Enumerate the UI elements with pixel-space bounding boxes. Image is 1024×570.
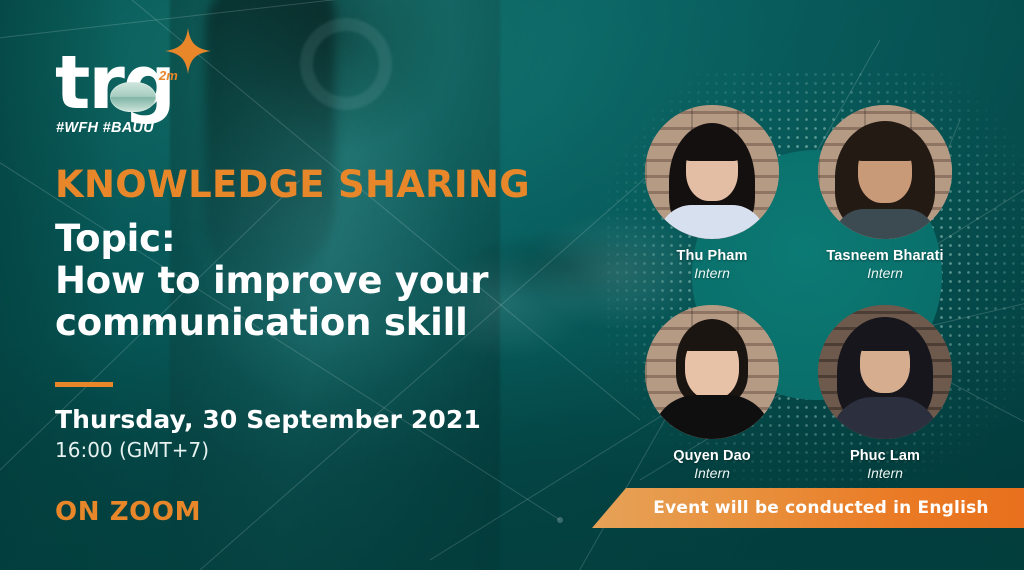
speaker-role: Intern xyxy=(645,265,779,281)
speaker-name: Tasneem Bharati xyxy=(818,248,952,264)
avatar xyxy=(818,305,952,439)
topic-label: Topic: xyxy=(55,218,575,260)
speaker-name: Quyen Dao xyxy=(645,448,779,464)
speaker-card: Tasneem Bharati Intern xyxy=(818,105,952,281)
logo-hashtags: #WFH #BAUU xyxy=(56,120,154,136)
orange-divider xyxy=(55,382,113,387)
speaker-card: Phuc Lam Intern xyxy=(818,305,952,481)
event-platform: ON ZOOM xyxy=(55,497,201,527)
event-time: 16:00 (GMT+7) xyxy=(55,438,209,462)
language-banner: Event will be conducted in English xyxy=(592,488,1024,528)
avatar xyxy=(645,105,779,239)
face-mask-icon xyxy=(110,82,156,112)
logo-wordmark: trg xyxy=(55,46,245,120)
topic-line-2: communication skill xyxy=(55,302,575,344)
event-date: Thursday, 30 September 2021 xyxy=(55,405,481,434)
page-title: KNOWLEDGE SHARING xyxy=(55,163,530,206)
speaker-card: Thu Pham Intern xyxy=(645,105,779,281)
left-content: trg 2m #WFH #BAUU KNOWLEDGE SHARING Topi… xyxy=(0,0,600,570)
avatar xyxy=(818,105,952,239)
logo-superscript: 2m xyxy=(159,68,178,83)
speaker-name: Thu Pham xyxy=(645,248,779,264)
speaker-role: Intern xyxy=(645,465,779,481)
speaker-card: Quyen Dao Intern xyxy=(645,305,779,481)
speaker-role: Intern xyxy=(818,265,952,281)
topic-heading: Topic: How to improve your communication… xyxy=(55,218,575,344)
trg-logo: trg 2m #WFH #BAUU xyxy=(55,46,245,141)
language-banner-text: Event will be conducted in English xyxy=(627,498,988,518)
speakers-panel: Thu Pham Intern Tasneem Bharati Intern xyxy=(596,0,1024,570)
speaker-name: Phuc Lam xyxy=(818,448,952,464)
avatar xyxy=(645,305,779,439)
topic-line-1: How to improve your xyxy=(55,260,575,302)
speaker-role: Intern xyxy=(818,465,952,481)
speakers-grid: Thu Pham Intern Tasneem Bharati Intern xyxy=(596,0,1024,570)
event-poster: trg 2m #WFH #BAUU KNOWLEDGE SHARING Topi… xyxy=(0,0,1024,570)
